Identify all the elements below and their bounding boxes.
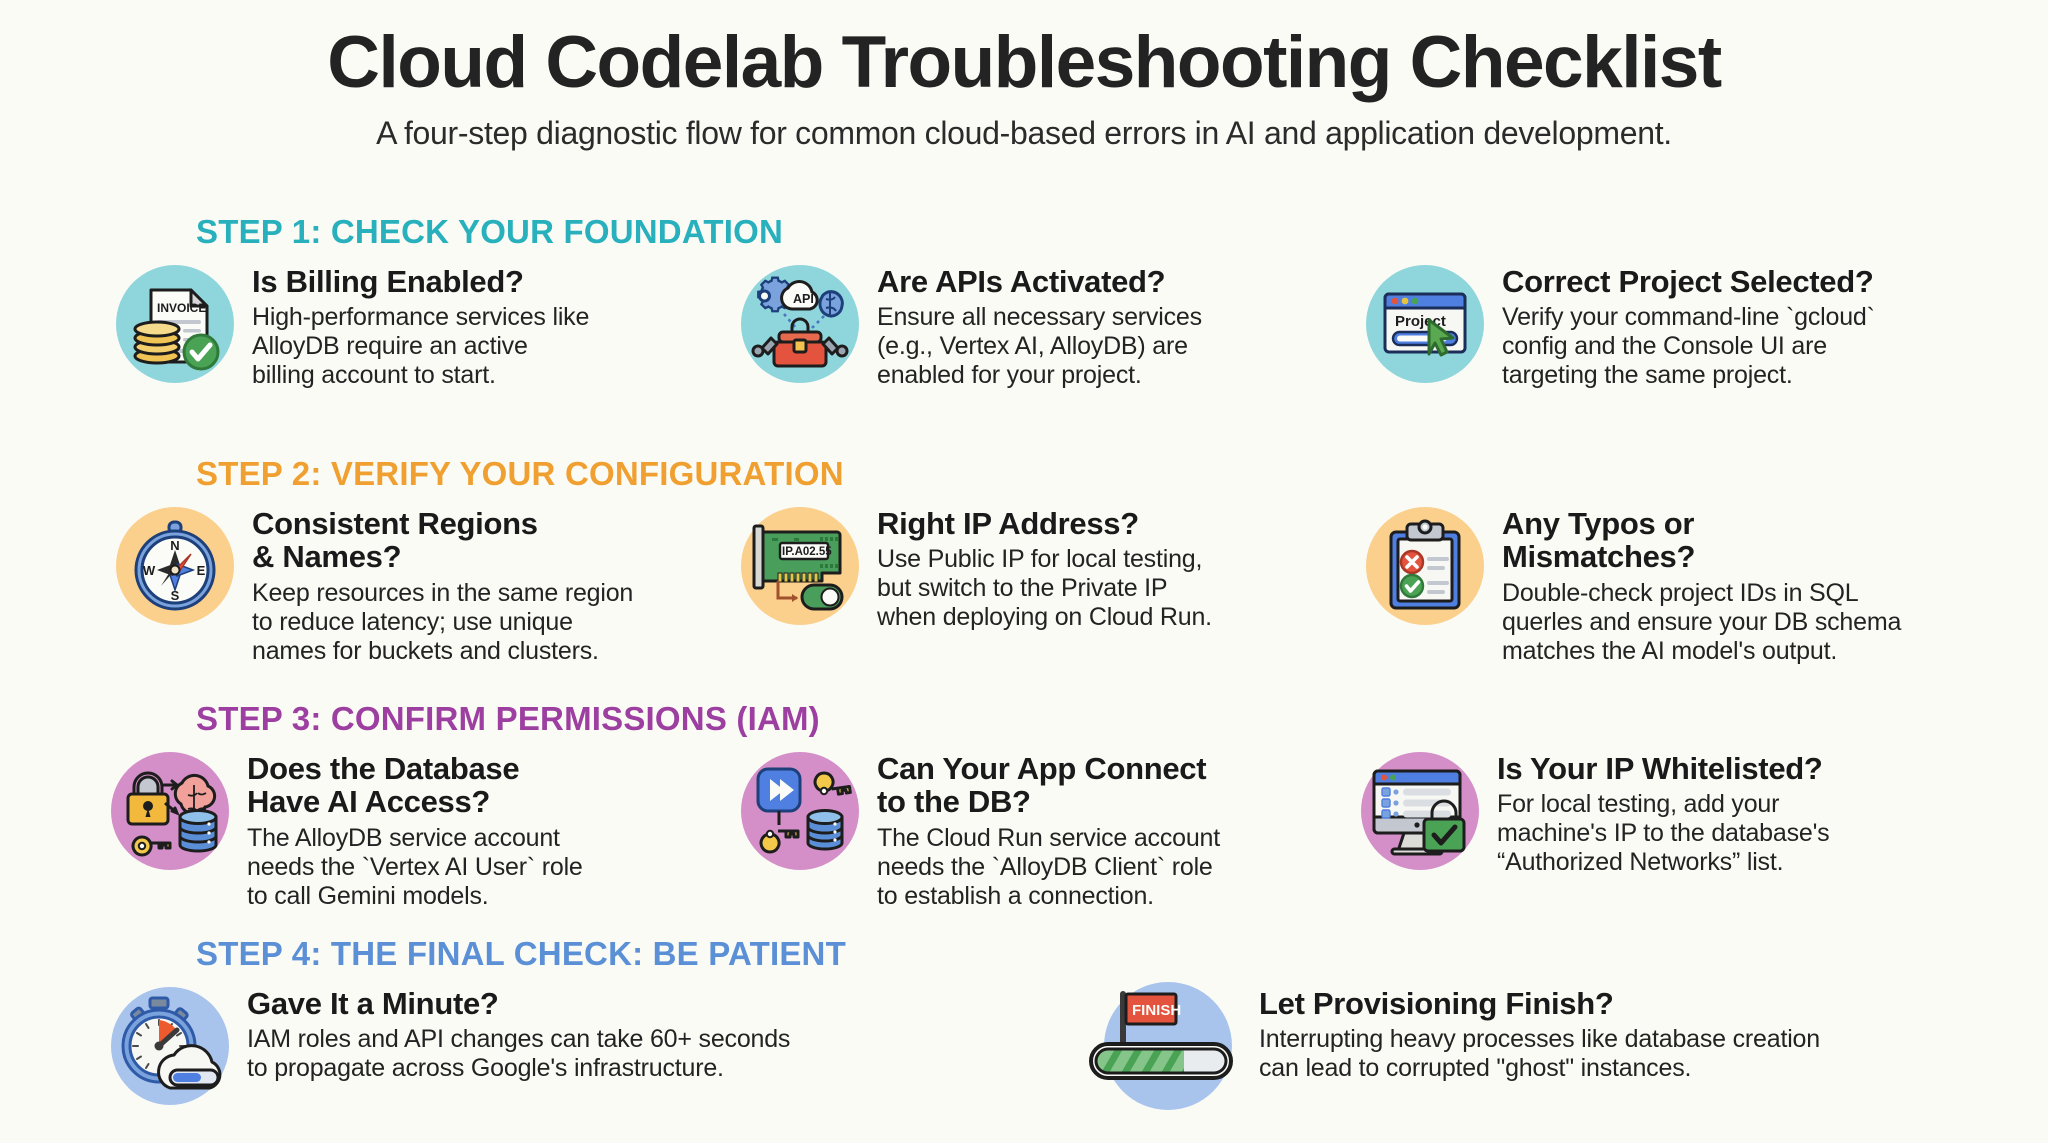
lock-brain-database-icon <box>105 746 235 876</box>
item-title: Correct Project Selected? <box>1502 265 1875 298</box>
invoice-coins-check-icon: INVOICE <box>110 259 240 389</box>
checklist-item-ip-whitelist: Is Your IP Whitelisted? For local testin… <box>1355 746 1955 877</box>
item-title: Is Billing Enabled? <box>252 265 589 298</box>
item-description: Verify your command-line `gcloud` config… <box>1502 303 1875 390</box>
clipboard-check-error-icon <box>1360 501 1490 631</box>
checklist-item-typos: Any Typos or Mismatches? Double-check pr… <box>1360 501 1970 666</box>
item-text: Is Billing Enabled? High-performance ser… <box>240 259 589 390</box>
item-title: Right IP Address? <box>877 507 1212 540</box>
item-title: Can Your App Connect to the DB? <box>877 752 1220 819</box>
item-title: Is Your IP Whitelisted? <box>1497 752 1829 785</box>
api-toolbox-icon: API <box>735 259 865 389</box>
svg-text:API: API <box>793 292 814 306</box>
monitor-lock-icon <box>1355 746 1485 876</box>
item-description: Double-check project IDs in SQL querles … <box>1502 579 1901 666</box>
item-description: Keep resources in the same region to red… <box>252 579 633 666</box>
item-description: The Cloud Run service account needs the … <box>877 824 1220 911</box>
app-key-database-icon <box>735 746 865 876</box>
item-title: Does the Database Have AI Access? <box>247 752 583 819</box>
network-card-ip-icon: IP.A02.55 <box>735 501 865 631</box>
stopwatch-cloud-icon <box>105 981 235 1111</box>
item-title: Consistent Regions & Names? <box>252 507 633 574</box>
infographic-page: Cloud Codelab Troubleshooting Checklist … <box>0 0 2048 1143</box>
item-text: Are APIs Activated? Ensure all necessary… <box>865 259 1202 390</box>
checklist-item-app-connect: Can Your App Connect to the DB? The Clou… <box>735 746 1305 911</box>
item-description: For local testing, add your machine's IP… <box>1497 790 1829 877</box>
item-title: Gave It a Minute? <box>247 987 790 1020</box>
step-3-header: STEP 3: CONFIRM PERMISSIONS (IAM) <box>196 700 2048 738</box>
checklist-item-db-ai-access: Does the Database Have AI Access? The Al… <box>105 746 685 911</box>
svg-text:IP.A02.55: IP.A02.55 <box>782 546 832 558</box>
step-2-row: N S E W Consist <box>0 501 2048 656</box>
step-section-1: STEP 1: CHECK YOUR FOUNDATION INVOICE <box>0 213 2048 409</box>
item-text: Consistent Regions & Names? Keep resourc… <box>240 501 633 666</box>
item-text: Correct Project Selected? Verify your co… <box>1490 259 1875 390</box>
compass-icon: N S E W <box>110 501 240 631</box>
step-3-row: Does the Database Have AI Access? The Al… <box>0 746 2048 906</box>
item-text: Can Your App Connect to the DB? The Clou… <box>865 746 1220 911</box>
item-description: Interrupting heavy processes like databa… <box>1259 1025 1820 1083</box>
item-text: Any Typos or Mismatches? Double-check pr… <box>1490 501 1901 666</box>
item-description: The AlloyDB service account needs the `V… <box>247 824 583 911</box>
svg-text:FINISH: FINISH <box>1132 1002 1181 1019</box>
item-description: Use Public IP for local testing, but swi… <box>877 545 1212 632</box>
step-1-row: INVOICE <box>0 259 2048 409</box>
item-text: Is Your IP Whitelisted? For local testin… <box>1485 746 1829 877</box>
item-description: Ensure all necessary services (e.g., Ver… <box>877 303 1202 390</box>
step-section-3: STEP 3: CONFIRM PERMISSIONS (IAM) <box>0 700 2048 906</box>
checklist-item-ip-address: IP.A02.55 <box>735 501 1295 632</box>
step-section-4: STEP 4: THE FINAL CHECK: BE PATIENT <box>0 935 2048 1143</box>
step-section-2: STEP 2: VERIFY YOUR CONFIGURATION N S E … <box>0 455 2048 656</box>
item-title: Are APIs Activated? <box>877 265 1202 298</box>
item-description: IAM roles and API changes can take 60+ s… <box>247 1025 790 1083</box>
step-4-row: Gave It a Minute? IAM roles and API chan… <box>0 981 2048 1143</box>
checklist-item-gave-it-a-minute: Gave It a Minute? IAM roles and API chan… <box>105 981 1005 1111</box>
checklist-item-billing: INVOICE <box>110 259 670 390</box>
item-text: Right IP Address? Use Public IP for loca… <box>865 501 1212 632</box>
item-text: Does the Database Have AI Access? The Al… <box>235 746 583 911</box>
svg-text:E: E <box>197 563 206 578</box>
page-title: Cloud Codelab Troubleshooting Checklist <box>0 0 2048 99</box>
browser-project-selector-icon: Project <box>1360 259 1490 389</box>
page-subtitle: A four-step diagnostic flow for common c… <box>0 115 2048 152</box>
step-1-header: STEP 1: CHECK YOUR FOUNDATION <box>196 213 2048 251</box>
item-text: Let Provisioning Finish? Interrupting he… <box>1255 981 1820 1083</box>
step-4-header: STEP 4: THE FINAL CHECK: BE PATIENT <box>196 935 2048 973</box>
item-title: Any Typos or Mismatches? <box>1502 507 1901 574</box>
progress-finish-flag-icon: FINISH <box>1080 981 1255 1111</box>
checklist-item-regions: N S E W Consist <box>110 501 700 666</box>
item-title: Let Provisioning Finish? <box>1259 987 1820 1020</box>
item-description: High-performance services like AlloyDB r… <box>252 303 589 390</box>
checklist-item-provisioning: FINISH <box>1080 981 1980 1111</box>
checklist-item-apis: API <box>735 259 1295 390</box>
svg-text:W: W <box>143 563 156 578</box>
checklist-item-project: Project Correct Project Selected? Verify… <box>1360 259 1960 390</box>
item-text: Gave It a Minute? IAM roles and API chan… <box>235 981 790 1083</box>
step-2-header: STEP 2: VERIFY YOUR CONFIGURATION <box>196 455 2048 493</box>
svg-text:INVOICE: INVOICE <box>157 301 206 315</box>
